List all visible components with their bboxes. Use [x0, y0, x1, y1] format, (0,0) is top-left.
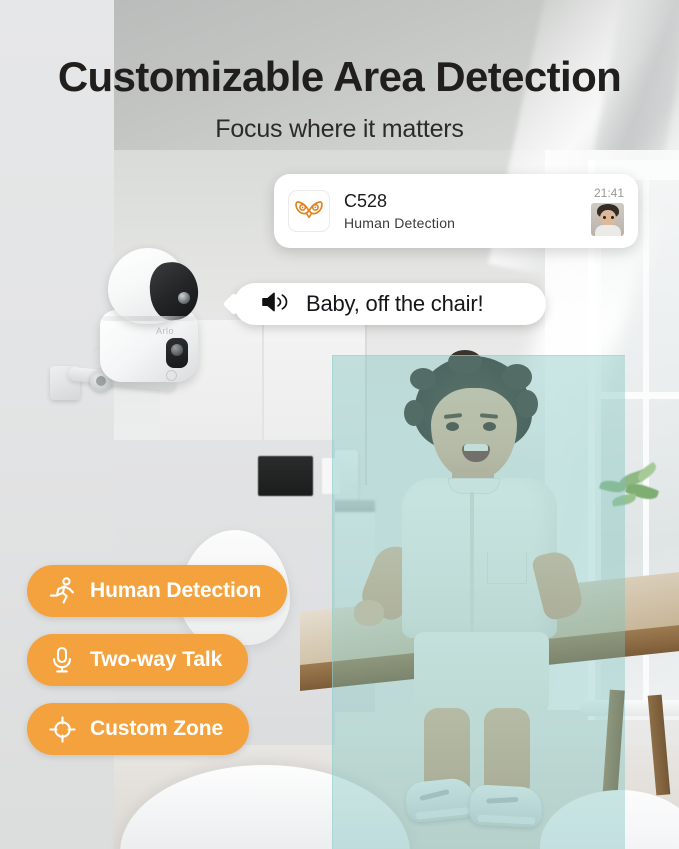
- child-subject: [352, 356, 582, 849]
- child-face: [431, 388, 517, 480]
- page-title: Customizable Area Detection: [0, 56, 679, 98]
- house-plant: [592, 455, 672, 525]
- notification-event-label: Human Detection: [344, 215, 591, 231]
- feature-pill-human-detection[interactable]: Human Detection: [27, 565, 287, 617]
- header: Customizable Area Detection Focus where …: [0, 0, 679, 144]
- notification-card[interactable]: C528 Human Detection 21:41: [274, 174, 638, 248]
- microwave-control-panel: [322, 458, 340, 494]
- running-person-icon: [47, 577, 77, 605]
- child-shoe-left: [404, 777, 476, 824]
- notification-thumbnail[interactable]: [591, 203, 624, 236]
- feature-pill-list: Human Detection Two-way Talk Custom Zone: [27, 565, 287, 772]
- feature-pill-two-way-talk[interactable]: Two-way Talk: [27, 634, 248, 686]
- notification-text: C528 Human Detection: [344, 191, 591, 232]
- window-sill: [580, 700, 679, 716]
- child-shoe-right: [469, 784, 543, 828]
- camera-brand-label: Arlo: [156, 326, 174, 336]
- notification-meta: 21:41: [591, 186, 624, 236]
- security-camera-device: Arlo: [38, 248, 218, 408]
- window-rail: [601, 392, 679, 399]
- speech-bubble-text: Baby, off the chair!: [306, 291, 483, 317]
- camera-lens: [178, 292, 190, 304]
- owl-icon: [288, 190, 330, 232]
- child-hand-left: [354, 600, 384, 626]
- feature-pill-label: Custom Zone: [90, 717, 223, 741]
- child-shorts: [414, 632, 549, 718]
- feature-pill-label: Human Detection: [90, 579, 261, 603]
- camera-status-indicator: [166, 370, 177, 381]
- speaker-icon: [260, 290, 290, 319]
- microwave-door: [258, 456, 313, 496]
- crosshair-target-icon: [47, 716, 77, 743]
- notification-timestamp: 21:41: [594, 186, 624, 200]
- microphone-icon: [47, 646, 77, 674]
- feature-pill-custom-zone[interactable]: Custom Zone: [27, 703, 249, 755]
- feature-pill-label: Two-way Talk: [90, 648, 222, 672]
- page-subtitle: Focus where it matters: [0, 115, 679, 144]
- notification-device-name: C528: [344, 191, 591, 212]
- two-way-talk-speech-bubble[interactable]: Baby, off the chair!: [234, 283, 546, 325]
